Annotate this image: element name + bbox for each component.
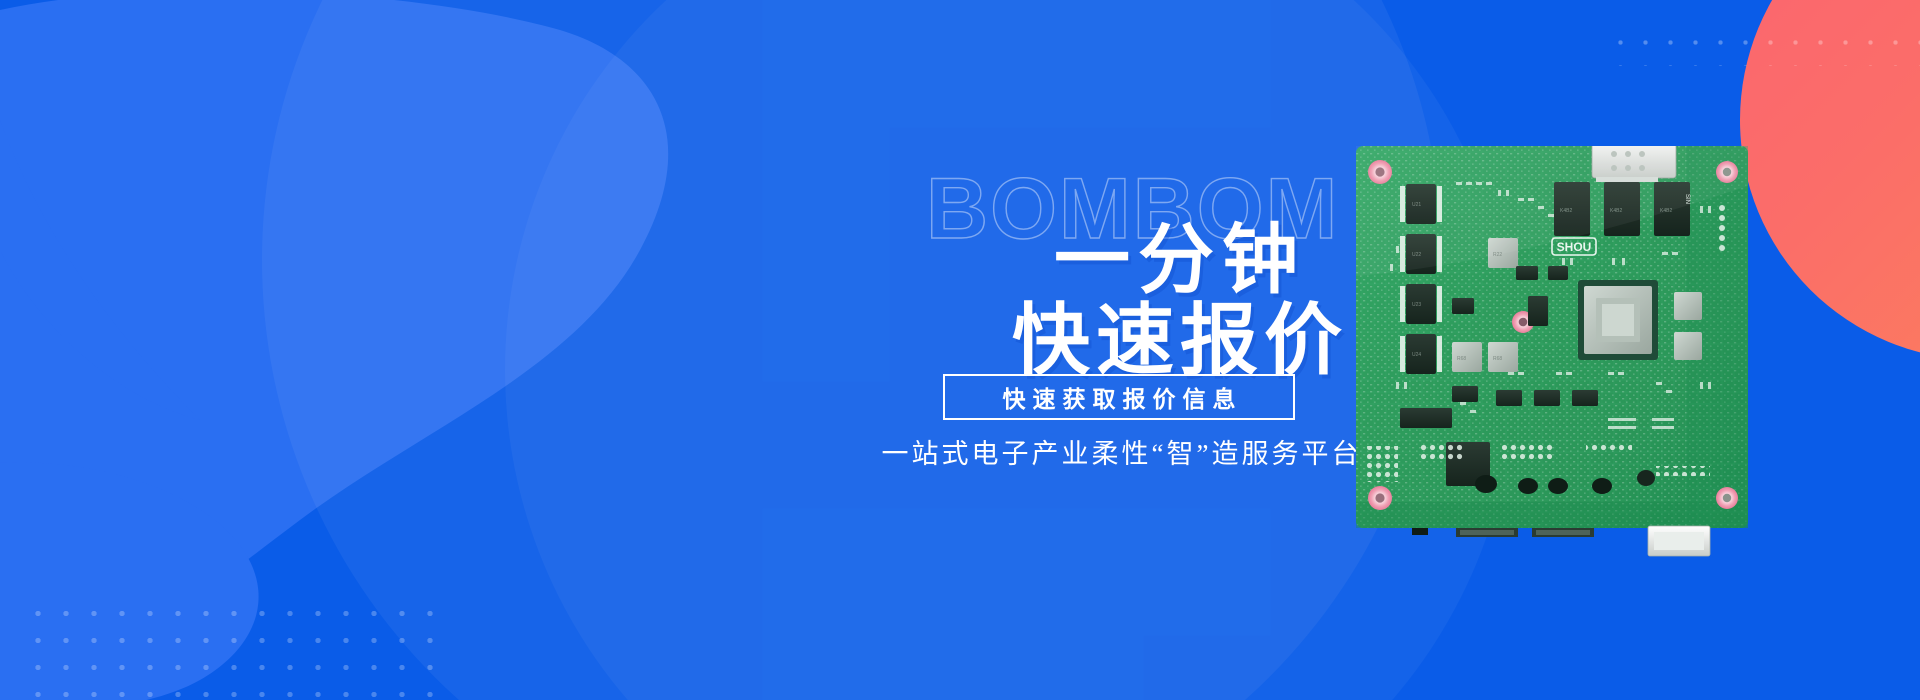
dot-grid-top-right bbox=[1608, 26, 1920, 66]
get-quote-button-label: 快速获取报价信息 bbox=[996, 380, 1243, 414]
hero-text-block: BOMBOM 一分钟 快速报价 快速获取报价信息 一站式电子产业柔性“智”造服务… bbox=[806, 170, 1426, 510]
headline-line-2: 快速报价 bbox=[946, 300, 1406, 380]
dot-grid-bottom-left bbox=[22, 596, 442, 700]
headline-line-1: 一分钟 bbox=[946, 222, 1406, 300]
coral-circle bbox=[1740, 0, 1920, 360]
page-title: 一分钟 快速报价 bbox=[946, 222, 1406, 381]
get-quote-button[interactable]: 快速获取报价信息 bbox=[943, 374, 1295, 420]
pcb-board-image: U21U22 U23U24 K4B2K4B2K4B2 bbox=[1356, 146, 1756, 558]
tagline: 一站式电子产业柔性“智”造服务平台 bbox=[860, 432, 1380, 471]
promo-banner: BOMBOM 一分钟 快速报价 快速获取报价信息 一站式电子产业柔性“智”造服务… bbox=[0, 0, 1920, 700]
pcb-io-connectors bbox=[1412, 526, 1710, 556]
pcb-board-graphic: U21U22 U23U24 K4B2K4B2K4B2 bbox=[1356, 146, 1756, 558]
